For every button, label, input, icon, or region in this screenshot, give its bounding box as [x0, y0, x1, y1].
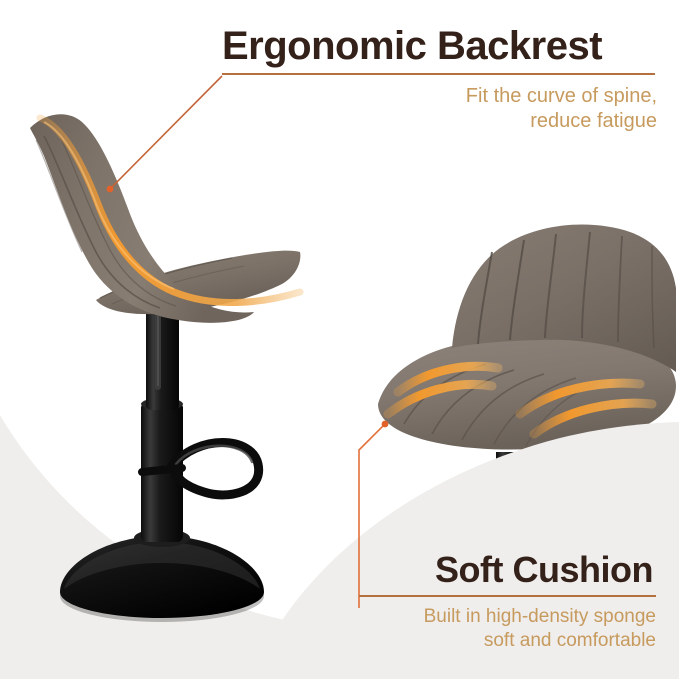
backrest-subtext-line-1: Fit the curve of spine, — [222, 84, 657, 109]
cushion-subtext-line-2: soft and comfortable — [359, 629, 656, 653]
backrest-subtext: Fit the curve of spine, reduce fatigue — [222, 84, 662, 134]
callout-cushion: Soft Cushion Built in high-density spong… — [359, 548, 659, 653]
backrest-headline: Ergonomic Backrest — [222, 22, 662, 70]
callout-backrest: Ergonomic Backrest Fit the curve of spin… — [222, 22, 662, 134]
backrest-subtext-line-2: reduce fatigue — [222, 109, 657, 134]
product-feature-image: Ergonomic Backrest Fit the curve of spin… — [0, 0, 679, 679]
backrest-underline — [222, 73, 655, 75]
cushion-underline — [359, 595, 656, 597]
cushion-subtext: Built in high-density sponge soft and co… — [359, 605, 659, 653]
cushion-subtext-line-1: Built in high-density sponge — [359, 605, 656, 629]
cushion-headline: Soft Cushion — [359, 548, 659, 592]
